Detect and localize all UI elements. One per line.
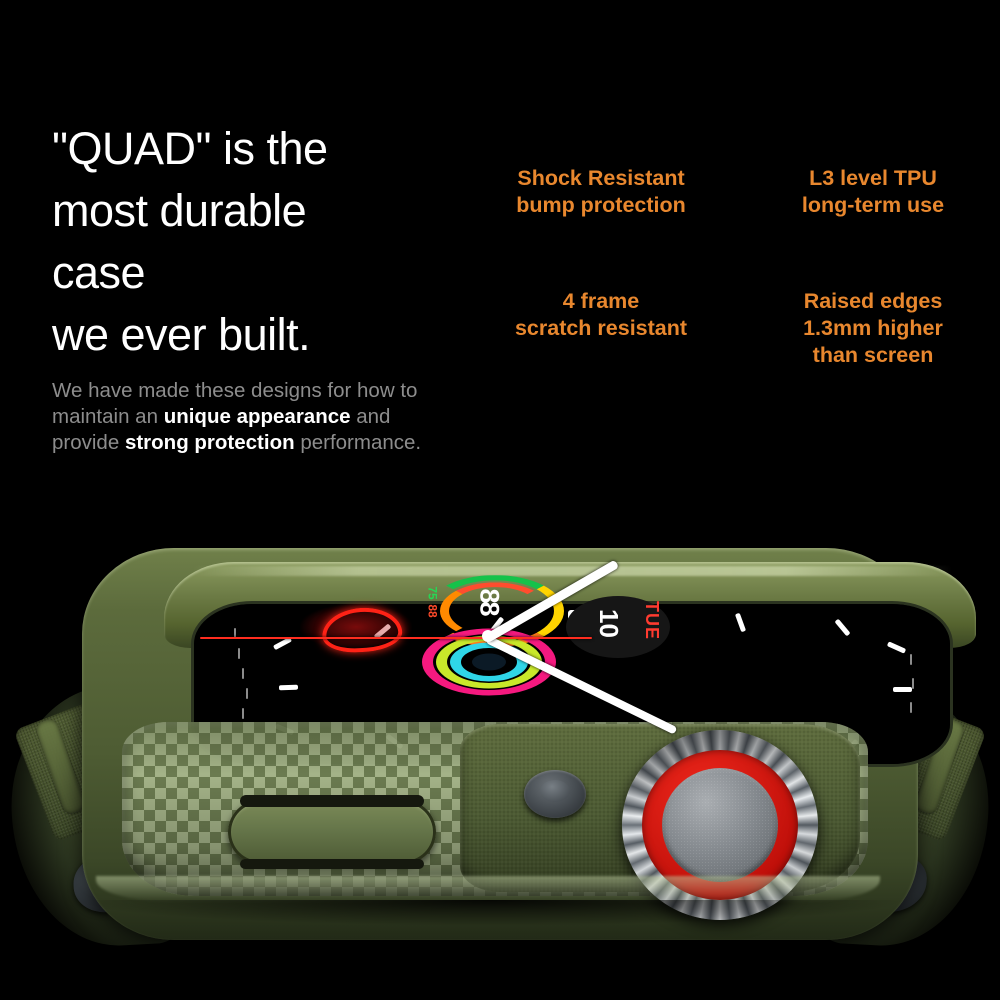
subcopy-text-3: performance. <box>295 431 421 454</box>
case-drop-shadow <box>70 900 910 926</box>
feature-scratch-resistant: 4 frame scratch resistant <box>470 288 732 342</box>
feature-shock-resistant: Shock Resistant bump protection <box>470 165 732 219</box>
headline-line-2: most durable <box>52 180 452 242</box>
feature-frame-line-2: scratch resistant <box>470 315 732 342</box>
watch-second-hand <box>200 637 592 639</box>
steps-value: 88 <box>474 588 505 614</box>
headline-block: "QUAD" is the most durable case we ever … <box>52 118 452 366</box>
steps-small-green-value: 75 <box>426 586 440 599</box>
case-bottom-rim <box>96 876 880 902</box>
watch-hands-pivot <box>482 630 494 642</box>
headline-line-1: "QUAD" is the <box>52 118 452 180</box>
headline-line-4: we ever built. <box>52 304 452 366</box>
feature-shock-line-1: Shock Resistant <box>470 165 732 192</box>
bezel-highlight <box>192 566 952 576</box>
feature-raised-edges: Raised edges 1.3mm higher than screen <box>748 288 998 369</box>
side-button[interactable] <box>524 770 586 818</box>
feature-tpu-line-2: long-term use <box>748 192 998 219</box>
date-weekday: TUE <box>641 601 662 640</box>
crown-center-cap <box>662 768 778 882</box>
headline-line-3: case <box>52 242 452 304</box>
side-button-slot-top-edge <box>240 795 424 807</box>
activity-rings-core <box>472 654 506 671</box>
date-day-number: 10 <box>593 609 624 638</box>
feature-shock-line-2: bump protection <box>470 192 732 219</box>
feature-edges-line-3: than screen <box>748 342 998 369</box>
side-button-slot[interactable] <box>228 800 436 864</box>
feature-edges-line-2: 1.3mm higher <box>748 315 998 342</box>
heart-icon <box>321 605 404 654</box>
crown-panel <box>460 724 860 892</box>
feature-l3-tpu: L3 level TPU long-term use <box>748 165 998 219</box>
feature-frame-line-1: 4 frame <box>470 288 732 315</box>
feature-edges-line-1: Raised edges <box>748 288 998 315</box>
subcopy-bold-1: unique appearance <box>164 405 351 428</box>
feature-tpu-line-1: L3 level TPU <box>748 165 998 192</box>
side-button-dome <box>540 780 570 802</box>
heart-rate-graphic <box>300 604 412 650</box>
date-complication[interactable]: 10 TUE <box>566 596 670 658</box>
subcopy-bold-2: strong protection <box>125 431 295 454</box>
side-button-slot-bottom-edge <box>240 859 424 869</box>
steps-small-red-value: 88 <box>426 604 440 617</box>
subcopy-paragraph: We have made these designs for how to ma… <box>52 378 452 456</box>
product-marketing-image: "QUAD" is the most durable case we ever … <box>0 0 1000 1000</box>
